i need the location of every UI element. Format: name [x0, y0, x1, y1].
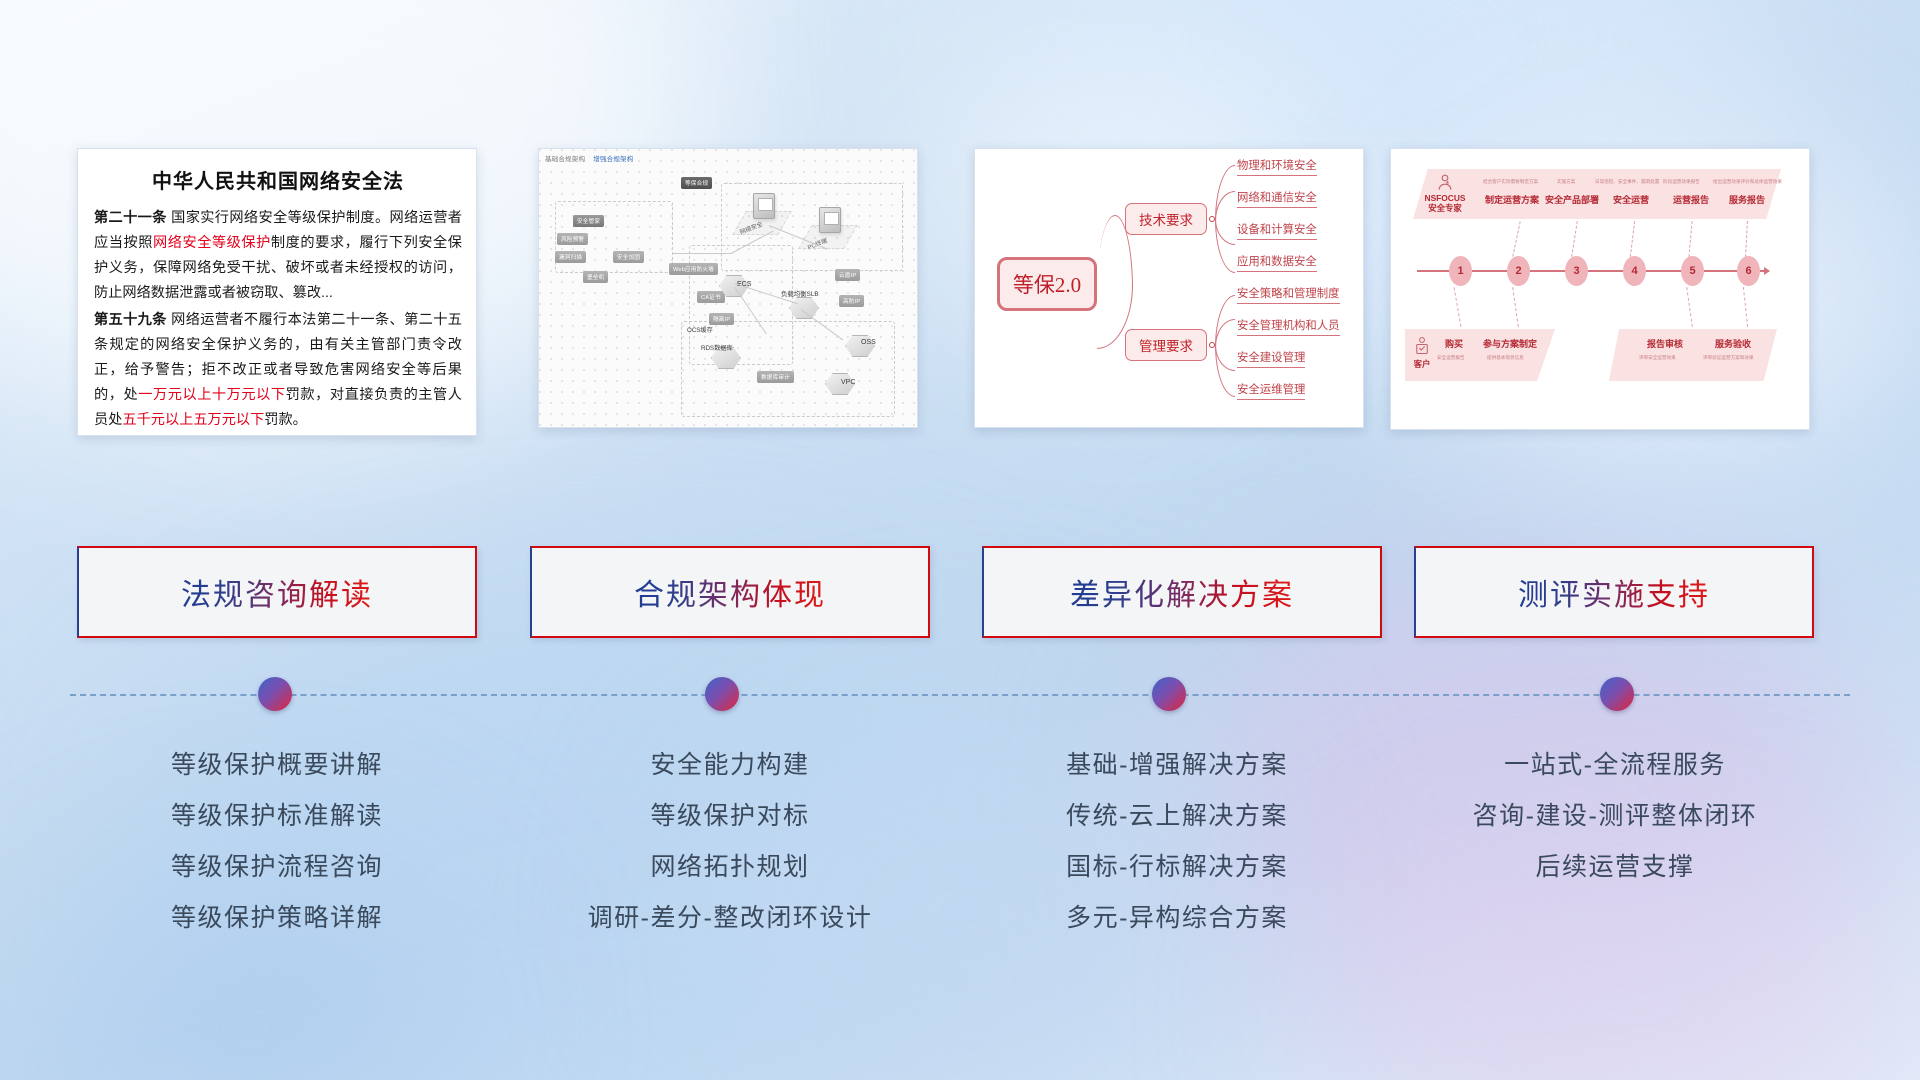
article-21-highlight: 网络安全等级保护: [153, 235, 271, 251]
progress-timeline: [0, 660, 1920, 720]
mindmap-leaf: 应用和数据安全: [1237, 253, 1317, 272]
card-service-timeline: NSFOCUS 安全专家 客户 1 2 3 4 5 6: [1390, 148, 1810, 430]
timeline-marker-4[interactable]: [1600, 677, 1634, 711]
section-header-label: 法规咨询解读: [181, 570, 373, 614]
label-oss: OSS: [861, 339, 876, 346]
mindmap-leaf: 设备和计算安全: [1237, 221, 1317, 240]
mindmap-connector: [1215, 345, 1235, 397]
timeline-leader: [1743, 287, 1748, 327]
mindmap-branch-technical: 技术要求: [1125, 203, 1207, 235]
list-item: 调研-差分-整改闭环设计: [515, 893, 945, 944]
timeline-step-title: 服务验收: [1715, 337, 1751, 350]
timeline-node: 4: [1623, 256, 1646, 286]
node-db-audit: 数据库审计: [757, 371, 794, 383]
timeline-step-title: 服务报告: [1729, 193, 1765, 206]
node-risk-alert: 风险预警: [557, 233, 588, 245]
mindmap-leaf: 安全策略和管理制度: [1237, 285, 1340, 304]
list-item: 等级保护概要讲解: [62, 740, 492, 791]
mindmap-connector: [1215, 219, 1235, 273]
node-vuln-scan: 漏洞扫描: [555, 251, 586, 263]
detail-column-differentiated-solutions: 基础-增强解决方案 传统-云上解决方案 国标-行标解决方案 多元-异构综合方案: [962, 740, 1392, 944]
article-59-text-c: 罚款。: [264, 412, 307, 428]
mindmap-root: 等保2.0: [997, 257, 1097, 311]
article-21-label: 第二十一条: [94, 210, 167, 226]
timeline-step-title: 报告审核: [1647, 337, 1683, 350]
section-header-assessment-support[interactable]: 测评实施支持: [1414, 546, 1814, 638]
timeline-marker-2[interactable]: [705, 677, 739, 711]
detail-column-regulation-consulting: 等级保护概要讲解 等级保护标准解读 等级保护流程咨询 等级保护策略详解: [62, 740, 492, 944]
detail-column-assessment-support: 一站式-全流程服务 咨询-建设-测评整体闭环 后续运营支撑: [1400, 740, 1830, 893]
timeline-leader: [1688, 221, 1692, 257]
timeline-leader: [1512, 221, 1520, 256]
list-item: 等级保护标准解读: [62, 791, 492, 842]
service-timeline: NSFOCUS 安全专家 客户 1 2 3 4 5 6: [1391, 149, 1809, 429]
timeline-step-title: 购买: [1445, 337, 1463, 350]
list-item: 后续运营支撑: [1400, 842, 1830, 893]
detail-column-compliance-architecture: 安全能力构建 等级保护对标 网络拓扑规划 调研-差分-整改闭环设计: [515, 740, 945, 944]
law-document: 中华人民共和国网络安全法 第二十一条 国家实行网络安全等级保护制度。网络运营者应…: [78, 149, 476, 436]
node-bastion-host: 堡垒机: [583, 271, 608, 283]
node-security-hardening: 安全加固: [613, 251, 644, 263]
timeline-marker-1[interactable]: [258, 677, 292, 711]
list-item: 等级保护流程咨询: [62, 842, 492, 893]
article-59-highlight-2: 五千元以上五万元以下: [122, 412, 264, 428]
timeline-step-title: 运营报告: [1673, 193, 1709, 206]
article-59-label: 第五十九条: [94, 312, 167, 328]
timeline-leader: [1512, 287, 1519, 327]
list-item: 安全能力构建: [515, 740, 945, 791]
section-header-label: 差异化解决方案: [1070, 570, 1294, 614]
timeline-step-sub: 安全运营报告: [1437, 355, 1465, 361]
timeline-node: 2: [1507, 256, 1530, 286]
article-59-highlight-1: 一万元以上十万元以下: [138, 387, 285, 403]
timeline-leader: [1745, 221, 1748, 257]
hex-slb: [789, 297, 819, 319]
timeline-step-sub: 评审安全运营效果: [1639, 355, 1676, 361]
list-item: 国标-行标解决方案: [962, 842, 1392, 893]
section-header-compliance-architecture[interactable]: 合规架构体现: [530, 546, 930, 638]
timeline-step-sub: 评审验证运营方案和效果: [1703, 355, 1754, 361]
pc-icon: [819, 207, 841, 233]
mindmap-leaf: 网络和通信安全: [1237, 189, 1317, 208]
customer-icon: [1413, 335, 1431, 357]
card-cybersecurity-law: 中华人民共和国网络安全法 第二十一条 国家实行网络安全等级保护制度。网络运营者应…: [77, 148, 477, 436]
timeline-step-title: 制定运营方案: [1485, 193, 1539, 206]
law-title: 中华人民共和国网络安全法: [94, 165, 462, 194]
list-item: 基础-增强解决方案: [962, 740, 1392, 791]
timeline-step-sub: 阶段运营效果报告: [1663, 179, 1700, 185]
list-item: 咨询-建设-测评整体闭环: [1400, 791, 1830, 842]
tab-basic-architecture: 基础合规架构: [545, 156, 585, 163]
node-isolated-ip: 隔离IP: [709, 313, 734, 325]
list-item: 网络拓扑规划: [515, 842, 945, 893]
timeline-node: 5: [1681, 256, 1704, 286]
node-anti-ddos-ip: 高防IP: [839, 295, 864, 307]
card-compliance-architecture: 基础合规架构 增强合规架构 等保合规 安全管家 风险预警 漏洞扫描 安全加固 堡…: [538, 148, 918, 428]
section-header-label: 合规架构体现: [634, 570, 826, 614]
section-header-row: 法规咨询解读 合规架构体现 差异化解决方案 测评实施支持: [0, 546, 1920, 642]
timeline-node: 6: [1737, 256, 1760, 286]
architecture-diagram: 基础合规架构 增强合规架构 等保合规 安全管家 风险预警 漏洞扫描 安全加固 堡…: [539, 149, 917, 427]
section-header-differentiated-solutions[interactable]: 差异化解决方案: [982, 546, 1382, 638]
timeline-step-title: 参与方案制定: [1483, 337, 1537, 350]
node-security-butler: 安全管家: [573, 215, 604, 227]
timeline-step-sub: 日常巡检、安全事件、漏洞处置: [1595, 179, 1659, 185]
mindmap-leaf: 安全运维管理: [1237, 381, 1305, 400]
timeline-step-sub: 结合客户实际需要制定方案: [1483, 179, 1538, 185]
timeline-step-title: 安全运营: [1613, 193, 1649, 206]
timeline-step-sub: 给出运营效果评价和总体运营效果: [1713, 179, 1782, 185]
list-item: 传统-云上解决方案: [962, 791, 1392, 842]
timeline-node: 3: [1565, 256, 1588, 286]
node-ca-certificate: CA证书: [697, 291, 725, 303]
timeline-marker-3[interactable]: [1152, 677, 1186, 711]
expert-brand-line2: 安全专家: [1415, 203, 1475, 213]
section-header-label: 测评实施支持: [1518, 570, 1710, 614]
list-item: 多元-异构综合方案: [962, 893, 1392, 944]
customer-label: 客户: [1407, 359, 1437, 369]
timeline-dashed-line: [70, 694, 1850, 696]
tab-enhanced-architecture: 增强合规架构: [593, 156, 633, 163]
node-waf: Web应用防火墙: [669, 263, 718, 275]
mindmap-leaf: 安全管理机构和人员: [1237, 317, 1340, 336]
list-item: 等级保护策略详解: [62, 893, 492, 944]
label-ocs-cache: OCS缓存: [687, 325, 713, 334]
architecture-tabs: 基础合规架构 增强合规架构: [545, 153, 633, 163]
section-detail-columns: 等级保护概要讲解 等级保护标准解读 等级保护流程咨询 等级保护策略详解 安全能力…: [0, 740, 1920, 960]
node-cloud-shield-ip: 云盾IP: [835, 269, 860, 281]
label-slb: 负载均衡SLB: [781, 289, 819, 298]
security-expert-icon: [1435, 173, 1455, 193]
connector: [673, 253, 731, 254]
list-item: 一站式-全流程服务: [1400, 740, 1830, 791]
label-rds: RDS数据库: [701, 343, 733, 352]
timeline-step-title: 安全产品部署: [1545, 193, 1599, 206]
mindmap-branch-management: 管理要求: [1125, 329, 1207, 361]
expert-brand-line1: NSFOCUS: [1415, 193, 1475, 203]
law-article-21: 第二十一条 国家实行网络安全等级保护制度。网络运营者应当按照网络安全等级保护制度…: [94, 206, 462, 306]
mindmap-leaf: 物理和环境安全: [1237, 157, 1317, 176]
list-item: 等级保护对标: [515, 791, 945, 842]
timeline-leader: [1454, 287, 1462, 327]
timeline-node: 1: [1449, 256, 1472, 286]
label-vpc: VPC: [841, 379, 855, 386]
timeline-step-sub: 实施方案: [1557, 179, 1575, 185]
timeline-leader: [1571, 221, 1578, 257]
timeline-leader: [1630, 221, 1635, 257]
mindmap: 等保2.0 技术要求 物理和环境安全 网络和通信安全 设备和计算安全 应用和数据…: [975, 149, 1363, 427]
section-header-regulation-consulting[interactable]: 法规咨询解读: [77, 546, 477, 638]
illustration-card-row: 中华人民共和国网络安全法 第二十一条 国家实行网络安全等级保护制度。网络运营者应…: [0, 148, 1920, 448]
chip-compliance: 等保合规: [681, 177, 712, 189]
card-mbp-mindmap: 等保2.0 技术要求 物理和环境安全 网络和通信安全 设备和计算安全 应用和数据…: [974, 148, 1364, 428]
timeline-step-sub: 提供基本现状信息: [1487, 355, 1524, 361]
mindmap-leaf: 安全建设管理: [1237, 349, 1305, 368]
law-article-59: 第五十九条 网络运营者不履行本法第二十一条、第二十五条规定的网络安全保护义务的，…: [94, 308, 462, 433]
server-icon: [753, 193, 775, 219]
timeline-leader: [1686, 287, 1693, 327]
